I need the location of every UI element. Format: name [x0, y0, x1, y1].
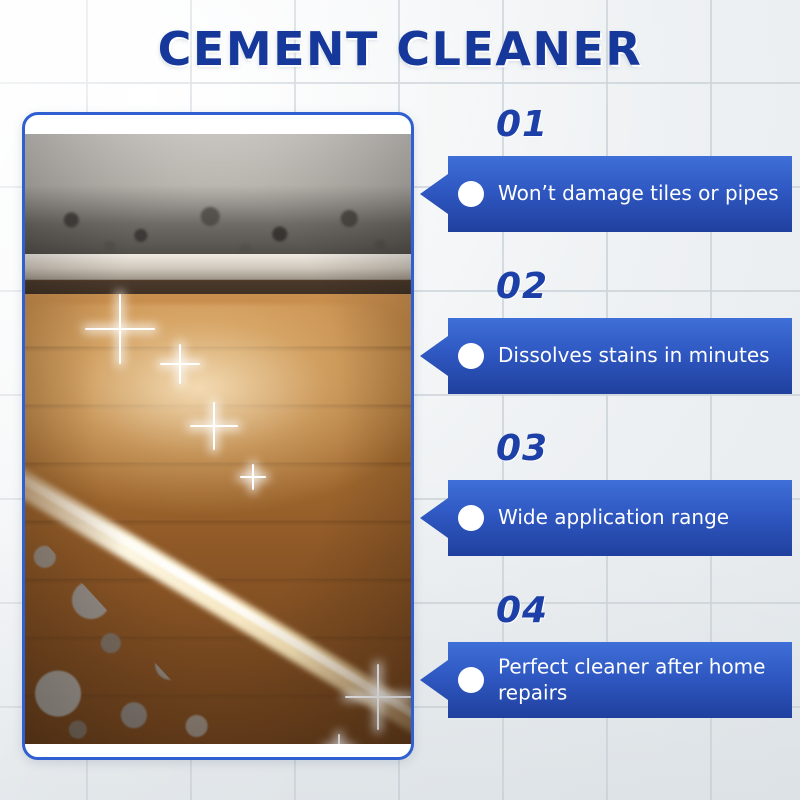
feature-text: Dissolves stains in minutes [498, 343, 780, 369]
feature-banner: Dissolves stains in minutes [420, 318, 792, 394]
feature-text: Perfect cleaner after home repairs [498, 654, 780, 705]
product-photo-frame [22, 112, 414, 760]
feature-number: 03 [496, 428, 548, 469]
feature-banner: Won’t damage tiles or pipes [420, 156, 792, 232]
feature-item: 04 Perfect cleaner after home repairs [420, 590, 792, 752]
feature-item: 03 Wide application range [420, 428, 792, 590]
feature-number: 02 [496, 266, 548, 307]
dot-icon [458, 667, 484, 693]
feature-banner: Wide application range [420, 480, 792, 556]
product-photo [25, 134, 411, 744]
feature-text: Wide application range [498, 505, 780, 531]
dot-icon [458, 505, 484, 531]
dot-icon [458, 343, 484, 369]
feature-item: 02 Dissolves stains in minutes [420, 266, 792, 428]
feature-text: Won’t damage tiles or pipes [498, 181, 780, 207]
photo-vignette [25, 134, 411, 744]
page-title: CEMENT CLEANER [0, 22, 800, 76]
feature-item: 01 Won’t damage tiles or pipes [420, 104, 792, 266]
product-infographic: CEMENT CLEANER 01 [0, 0, 800, 800]
feature-number: 01 [496, 104, 548, 145]
feature-list: 01 Won’t damage tiles or pipes 02 Dissol… [420, 104, 792, 752]
dot-icon [458, 181, 484, 207]
feature-number: 04 [496, 590, 548, 631]
feature-banner: Perfect cleaner after home repairs [420, 642, 792, 718]
